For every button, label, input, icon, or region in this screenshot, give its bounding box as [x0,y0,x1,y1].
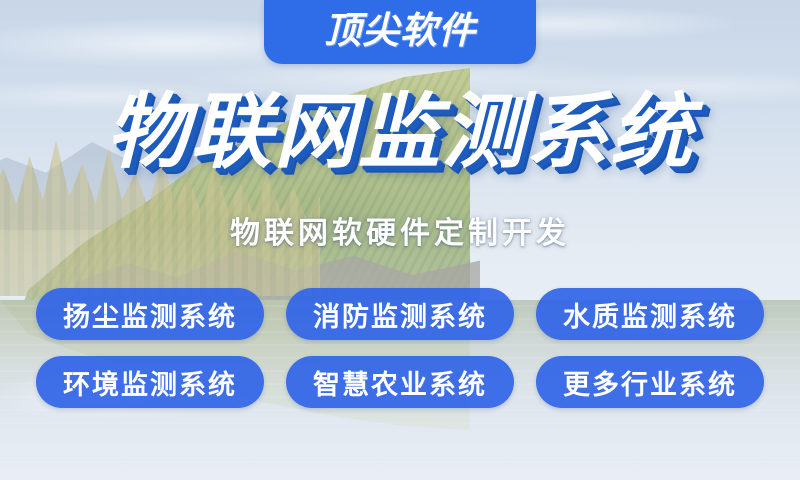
brand-badge-label: 顶尖软件 [324,12,476,52]
pill-button-water-quality-monitoring[interactable]: 水质监测系统 [536,288,764,340]
pill-button-environment-monitoring[interactable]: 环境监测系统 [36,356,264,408]
page-title: 物联网监测系统 [0,92,800,174]
pill-button-fire-monitoring[interactable]: 消防监测系统 [286,288,514,340]
pill-button-label: 水质监测系统 [563,295,737,334]
category-pill-row: 扬尘监测系统 消防监测系统 水质监测系统 [36,288,764,340]
promo-banner: 顶尖软件 物联网监测系统 物联网软硬件定制开发 扬尘监测系统 消防监测系统 水质… [0,0,800,480]
pill-button-label: 环境监测系统 [63,363,237,402]
pill-button-smart-agriculture[interactable]: 智慧农业系统 [286,356,514,408]
banner-content: 顶尖软件 物联网监测系统 物联网软硬件定制开发 扬尘监测系统 消防监测系统 水质… [0,0,800,480]
page-subtitle: 物联网软硬件定制开发 [0,208,800,252]
brand-badge[interactable]: 顶尖软件 [264,0,536,64]
category-pill-grid: 扬尘监测系统 消防监测系统 水质监测系统 环境监测系统 智慧农业系统 更多行业系… [0,288,800,408]
pill-button-label: 更多行业系统 [563,363,737,402]
pill-button-label: 智慧农业系统 [313,363,487,402]
pill-button-dust-monitoring[interactable]: 扬尘监测系统 [36,288,264,340]
category-pill-row: 环境监测系统 智慧农业系统 更多行业系统 [36,356,764,408]
pill-button-label: 消防监测系统 [313,295,487,334]
pill-button-more-industries[interactable]: 更多行业系统 [536,356,764,408]
pill-button-label: 扬尘监测系统 [63,295,237,334]
